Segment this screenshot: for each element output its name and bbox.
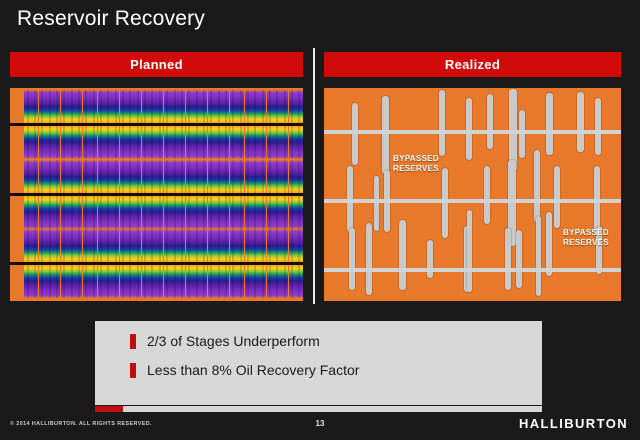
fracture-stage bbox=[134, 196, 141, 229]
fracture-stage bbox=[39, 265, 46, 298]
fracture-stage bbox=[208, 229, 215, 262]
fracture-stage bbox=[90, 229, 97, 262]
fracture-stage bbox=[230, 160, 237, 193]
fracture-stage bbox=[274, 265, 281, 298]
fracture-stage bbox=[186, 196, 193, 229]
fracture bbox=[349, 228, 355, 290]
fracture-stage bbox=[289, 265, 296, 298]
fracture-stage bbox=[53, 196, 60, 229]
fracture-stage bbox=[171, 229, 178, 262]
fracture-stage bbox=[237, 126, 244, 159]
fracture-stage bbox=[259, 196, 266, 229]
fracture-stage bbox=[53, 229, 60, 262]
fracture-stage bbox=[31, 265, 38, 298]
fracture-stage bbox=[39, 196, 46, 229]
fracture-stage bbox=[252, 229, 259, 262]
fracture-stage bbox=[75, 265, 82, 298]
fracture-stage bbox=[259, 160, 266, 193]
fracture-stage bbox=[83, 90, 90, 123]
fracture-stage bbox=[267, 196, 274, 229]
fracture-stage bbox=[245, 126, 252, 159]
fracture-stage bbox=[134, 126, 141, 159]
fracture-stage bbox=[90, 196, 97, 229]
fracture-stage bbox=[90, 265, 97, 298]
fracture-stage bbox=[252, 160, 259, 193]
fracture-stage bbox=[289, 196, 296, 229]
fracture-stage bbox=[24, 196, 31, 229]
fracture-stage bbox=[83, 196, 90, 229]
fracture-stage bbox=[24, 126, 31, 159]
fracture-stage bbox=[149, 265, 156, 298]
fracture-stage bbox=[156, 196, 163, 229]
fracture-stage bbox=[200, 265, 207, 298]
fracture-stage bbox=[112, 160, 119, 193]
fracture-stage bbox=[200, 126, 207, 159]
fracture-stage bbox=[31, 90, 38, 123]
fracture-stage bbox=[75, 160, 82, 193]
fracture-stage bbox=[24, 160, 31, 193]
fracture-stage bbox=[90, 160, 97, 193]
wellbore bbox=[324, 130, 621, 134]
fracture bbox=[466, 98, 472, 160]
fracture-stage bbox=[259, 90, 266, 123]
fracture-stage bbox=[53, 126, 60, 159]
fracture-stage bbox=[24, 229, 31, 262]
fracture-stage bbox=[281, 90, 288, 123]
realized-reservoir-diagram: BYPASSEDRESERVESBYPASSEDRESERVES bbox=[324, 88, 621, 301]
fracture bbox=[546, 93, 553, 155]
bullet-label: Less than 8% Oil Recovery Factor bbox=[147, 362, 359, 378]
fracture-band bbox=[24, 90, 303, 123]
fracture-stage bbox=[149, 160, 156, 193]
fracture-stage bbox=[208, 196, 215, 229]
fracture-stage bbox=[53, 160, 60, 193]
bypassed-reserves-annotation: BYPASSEDRESERVES bbox=[563, 228, 609, 248]
fracture-stage bbox=[222, 160, 229, 193]
fracture-stage bbox=[39, 126, 46, 159]
fracture bbox=[366, 223, 372, 295]
fracture-stage bbox=[281, 126, 288, 159]
fracture-stage bbox=[105, 196, 112, 229]
fracture-stage bbox=[164, 229, 171, 262]
fracture-stage bbox=[142, 90, 149, 123]
fracture-stage bbox=[127, 160, 134, 193]
fracture-stage bbox=[230, 265, 237, 298]
bullet-marker-icon bbox=[130, 334, 136, 349]
fracture-stage bbox=[31, 160, 38, 193]
fracture-stage bbox=[39, 229, 46, 262]
fracture-stage bbox=[75, 196, 82, 229]
fracture-stage bbox=[267, 229, 274, 262]
fracture-stage bbox=[68, 90, 75, 123]
fracture-stage bbox=[222, 229, 229, 262]
fracture-stage bbox=[252, 126, 259, 159]
fracture-stage bbox=[245, 265, 252, 298]
fracture-band bbox=[24, 160, 303, 193]
fracture-stage bbox=[120, 196, 127, 229]
wellbore bbox=[10, 123, 303, 126]
fracture-stage bbox=[259, 229, 266, 262]
fracture-stage bbox=[215, 229, 222, 262]
fracture-stage bbox=[274, 126, 281, 159]
fracture-stage bbox=[252, 90, 259, 123]
wellbore bbox=[10, 193, 303, 196]
fracture-stage bbox=[98, 265, 105, 298]
fracture-stage bbox=[237, 196, 244, 229]
fracture-stage bbox=[83, 160, 90, 193]
fracture bbox=[546, 212, 552, 276]
fracture-stage bbox=[112, 90, 119, 123]
fracture-stage bbox=[186, 90, 193, 123]
fracture-stage bbox=[178, 160, 185, 193]
slide: Reservoir Recovery Planned Realized BYPA… bbox=[0, 0, 640, 440]
fracture bbox=[577, 92, 584, 152]
fracture-stage bbox=[193, 265, 200, 298]
fracture-stage bbox=[149, 196, 156, 229]
fracture-stage bbox=[149, 229, 156, 262]
fracture-stage bbox=[134, 160, 141, 193]
fracture-stage bbox=[245, 160, 252, 193]
fracture bbox=[519, 110, 525, 158]
fracture bbox=[382, 96, 389, 174]
fracture-stage bbox=[31, 196, 38, 229]
halliburton-logo: HALLIBURTON bbox=[519, 416, 628, 431]
fracture-stage bbox=[127, 126, 134, 159]
fracture-stage bbox=[156, 90, 163, 123]
fracture-stage bbox=[252, 265, 259, 298]
fracture-stage bbox=[230, 196, 237, 229]
fracture-band bbox=[24, 196, 303, 229]
fracture-stage bbox=[46, 90, 53, 123]
fracture-stage bbox=[200, 90, 207, 123]
bullet-label: 2/3 of Stages Underperform bbox=[147, 333, 320, 349]
fracture-band bbox=[24, 126, 303, 159]
panel-header-realized: Realized bbox=[324, 52, 621, 77]
fracture-stage bbox=[134, 265, 141, 298]
fracture-stage bbox=[120, 265, 127, 298]
fracture-stage bbox=[112, 229, 119, 262]
fracture-stage bbox=[46, 265, 53, 298]
fracture-stage bbox=[186, 229, 193, 262]
fracture-stage bbox=[274, 160, 281, 193]
fracture-stage bbox=[134, 90, 141, 123]
fracture-stage bbox=[296, 265, 303, 298]
fracture bbox=[536, 216, 541, 296]
fracture-stage bbox=[208, 160, 215, 193]
fracture-stage bbox=[120, 160, 127, 193]
fracture-stage bbox=[193, 90, 200, 123]
panel-divider bbox=[313, 48, 315, 304]
fracture bbox=[487, 94, 493, 149]
fracture-stage bbox=[90, 90, 97, 123]
fracture-stage bbox=[289, 160, 296, 193]
fracture-stage bbox=[75, 229, 82, 262]
fracture-stage bbox=[267, 90, 274, 123]
fracture-stage bbox=[215, 196, 222, 229]
fracture-stage bbox=[24, 90, 31, 123]
fracture-stage bbox=[75, 126, 82, 159]
fracture-stage bbox=[171, 160, 178, 193]
fracture-stage bbox=[98, 126, 105, 159]
wellbore bbox=[324, 268, 621, 272]
fracture bbox=[467, 210, 472, 292]
fracture-stage bbox=[171, 126, 178, 159]
progress-bar-fill bbox=[95, 406, 123, 412]
fracture-stage bbox=[178, 196, 185, 229]
fracture-stage bbox=[31, 229, 38, 262]
fracture-stage bbox=[61, 229, 68, 262]
fracture-stage bbox=[39, 160, 46, 193]
fracture bbox=[516, 230, 522, 288]
fracture-stage bbox=[259, 126, 266, 159]
fracture-stage bbox=[68, 265, 75, 298]
fracture-stage bbox=[142, 196, 149, 229]
fracture-stage bbox=[186, 265, 193, 298]
fracture-stage bbox=[222, 126, 229, 159]
fracture-stage bbox=[61, 265, 68, 298]
fracture-stage bbox=[267, 160, 274, 193]
fracture-stage bbox=[215, 126, 222, 159]
fracture-stage bbox=[156, 229, 163, 262]
fracture-stage bbox=[281, 196, 288, 229]
fracture-stage bbox=[83, 265, 90, 298]
fracture-stage bbox=[156, 160, 163, 193]
fracture-stage bbox=[215, 90, 222, 123]
fracture-stage bbox=[98, 196, 105, 229]
fracture-stage bbox=[222, 90, 229, 123]
fracture-stage bbox=[237, 160, 244, 193]
fracture-stage bbox=[120, 229, 127, 262]
fracture-stage bbox=[208, 265, 215, 298]
page-title: Reservoir Recovery bbox=[17, 7, 205, 31]
fracture-stage bbox=[193, 229, 200, 262]
fracture bbox=[374, 176, 379, 231]
fracture-stage bbox=[61, 90, 68, 123]
fracture-stage bbox=[200, 160, 207, 193]
fracture-stage bbox=[142, 229, 149, 262]
fracture-stage bbox=[171, 196, 178, 229]
fracture-stage bbox=[237, 90, 244, 123]
fracture-stage bbox=[208, 126, 215, 159]
fracture-stage bbox=[98, 90, 105, 123]
panel-header-planned: Planned bbox=[10, 52, 303, 77]
bypassed-reserves-annotation: BYPASSEDRESERVES bbox=[393, 154, 439, 174]
fracture-stage bbox=[46, 126, 53, 159]
list-item: 2/3 of Stages Underperform bbox=[130, 333, 320, 349]
fracture-stage bbox=[200, 229, 207, 262]
fracture-stage bbox=[215, 265, 222, 298]
fracture-stage bbox=[267, 126, 274, 159]
fracture bbox=[554, 166, 560, 228]
fracture-stage bbox=[46, 196, 53, 229]
fracture-stage bbox=[68, 196, 75, 229]
fracture-stage bbox=[112, 126, 119, 159]
fracture-stage bbox=[200, 196, 207, 229]
fracture-stage bbox=[105, 265, 112, 298]
fracture-stage bbox=[149, 90, 156, 123]
fracture-stage bbox=[68, 160, 75, 193]
fracture bbox=[442, 168, 448, 238]
fracture-stage bbox=[120, 126, 127, 159]
fracture-stage bbox=[171, 90, 178, 123]
fracture bbox=[352, 103, 358, 165]
bullet-panel: 2/3 of Stages Underperform Less than 8% … bbox=[95, 321, 542, 405]
fracture-stage bbox=[186, 160, 193, 193]
fracture-stage bbox=[296, 126, 303, 159]
fracture-stage bbox=[164, 196, 171, 229]
fracture-stage bbox=[289, 229, 296, 262]
fracture-stage bbox=[274, 196, 281, 229]
wellbore bbox=[10, 262, 303, 265]
fracture-stage bbox=[296, 229, 303, 262]
fracture-stage bbox=[105, 90, 112, 123]
fracture-stage bbox=[296, 160, 303, 193]
fracture-band bbox=[24, 229, 303, 262]
fracture-stage bbox=[127, 196, 134, 229]
fracture-stage bbox=[164, 126, 171, 159]
fracture-stage bbox=[46, 160, 53, 193]
bullet-marker-icon bbox=[130, 363, 136, 378]
fracture-stage bbox=[83, 126, 90, 159]
fracture-stage bbox=[245, 229, 252, 262]
fracture-stage bbox=[193, 196, 200, 229]
fracture-stage bbox=[164, 160, 171, 193]
fracture-stage bbox=[296, 196, 303, 229]
fracture-stage bbox=[178, 229, 185, 262]
fracture-stage bbox=[68, 126, 75, 159]
fracture-stage bbox=[105, 160, 112, 193]
fracture-stage bbox=[178, 126, 185, 159]
fracture-stage bbox=[112, 265, 119, 298]
fracture-stage bbox=[149, 126, 156, 159]
planned-reservoir-diagram bbox=[10, 88, 303, 301]
fracture-stage bbox=[237, 229, 244, 262]
fracture-stage bbox=[134, 229, 141, 262]
fracture-stage bbox=[127, 90, 134, 123]
fracture-band bbox=[24, 265, 303, 298]
fracture-stage bbox=[230, 126, 237, 159]
fracture-stage bbox=[75, 90, 82, 123]
fracture bbox=[427, 240, 433, 278]
fracture-stage bbox=[105, 229, 112, 262]
fracture-stage bbox=[24, 265, 31, 298]
fracture-stage bbox=[127, 229, 134, 262]
fracture-stage bbox=[281, 265, 288, 298]
fracture-stage bbox=[83, 229, 90, 262]
fracture-stage bbox=[259, 265, 266, 298]
fracture-stage bbox=[46, 229, 53, 262]
list-item: Less than 8% Oil Recovery Factor bbox=[130, 362, 359, 378]
fracture-stage bbox=[281, 160, 288, 193]
fracture-stage bbox=[98, 160, 105, 193]
fracture-stage bbox=[142, 160, 149, 193]
fracture-stage bbox=[127, 265, 134, 298]
fracture-stage bbox=[53, 90, 60, 123]
fracture bbox=[534, 150, 540, 222]
fracture-stage bbox=[289, 126, 296, 159]
fracture-stage bbox=[164, 90, 171, 123]
fracture-stage bbox=[222, 265, 229, 298]
fracture-stage bbox=[105, 126, 112, 159]
fracture-stage bbox=[208, 90, 215, 123]
fracture-stage bbox=[296, 90, 303, 123]
fracture-stage bbox=[120, 90, 127, 123]
fracture-stage bbox=[171, 265, 178, 298]
fracture-stage bbox=[68, 229, 75, 262]
fracture-stage bbox=[289, 90, 296, 123]
fracture-stage bbox=[142, 265, 149, 298]
fracture bbox=[399, 220, 406, 290]
fracture bbox=[595, 98, 601, 155]
fracture-stage bbox=[252, 196, 259, 229]
fracture-stage bbox=[98, 229, 105, 262]
fracture bbox=[505, 228, 511, 290]
fracture bbox=[484, 166, 490, 224]
fracture-stage bbox=[31, 126, 38, 159]
fracture-stage bbox=[90, 126, 97, 159]
fracture-stage bbox=[274, 90, 281, 123]
fracture-stage bbox=[193, 160, 200, 193]
fracture-stage bbox=[274, 229, 281, 262]
fracture-stage bbox=[178, 265, 185, 298]
fracture-stage bbox=[193, 126, 200, 159]
progress-bar-track bbox=[95, 406, 542, 412]
fracture-stage bbox=[267, 265, 274, 298]
wellbore bbox=[324, 199, 621, 203]
fracture-stage bbox=[39, 90, 46, 123]
fracture-stage bbox=[156, 126, 163, 159]
fracture-stage bbox=[142, 126, 149, 159]
fracture-stage bbox=[178, 90, 185, 123]
fracture-stage bbox=[281, 229, 288, 262]
fracture bbox=[439, 90, 445, 156]
fracture-stage bbox=[230, 229, 237, 262]
fracture-stage bbox=[186, 126, 193, 159]
fracture-stage bbox=[164, 265, 171, 298]
fracture-stage bbox=[61, 160, 68, 193]
fracture-stage bbox=[245, 90, 252, 123]
fracture-stage bbox=[215, 160, 222, 193]
fracture-stage bbox=[53, 265, 60, 298]
fracture-stage bbox=[245, 196, 252, 229]
fracture-stage bbox=[156, 265, 163, 298]
fracture-stage bbox=[222, 196, 229, 229]
fracture-stage bbox=[61, 126, 68, 159]
fracture-stage bbox=[237, 265, 244, 298]
fracture-stage bbox=[112, 196, 119, 229]
fracture-stage bbox=[230, 90, 237, 123]
fracture-stage bbox=[61, 196, 68, 229]
